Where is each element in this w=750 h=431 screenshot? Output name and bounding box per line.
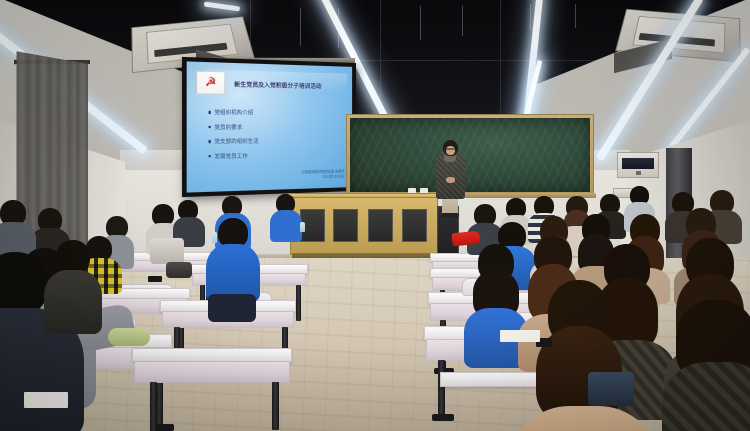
student-lower (208, 294, 256, 322)
list-item: 党组织机构介绍 (208, 109, 346, 117)
bag[interactable] (588, 372, 634, 406)
front-cabinet-podium[interactable] (290, 197, 438, 255)
student-head (56, 240, 90, 274)
presenter-shoes (441, 213, 459, 218)
ceiling-hanger-rod (300, 8, 301, 46)
ac-control-panel[interactable] (617, 152, 659, 178)
blackboard-surface[interactable] (350, 118, 590, 192)
paper-sheet[interactable] (500, 330, 540, 342)
desk-leg (296, 285, 301, 321)
desk-leg (272, 382, 279, 430)
slide-title: 新生党员及入党积极分子培训活动 (234, 80, 347, 91)
bullet-text: 党组织机构介绍 (214, 109, 253, 117)
phone[interactable] (148, 276, 162, 282)
presenter-hands (446, 177, 455, 183)
presentation-slide: ☭ 新生党员及入党积极分子培训活动 党组织机构介绍 党员的要求 党支部的组织生活 (187, 61, 352, 192)
scarf-on-desk[interactable] (108, 328, 150, 346)
desk-front-panel (134, 361, 290, 383)
desk-leg (438, 360, 445, 418)
list-item: 党员的要求 (208, 123, 346, 131)
bullet-marker-icon (208, 155, 211, 158)
bullet-text: 党支部的组织生活 (214, 138, 258, 146)
ceiling-hanger-rod (530, 4, 531, 30)
bullet-text: 发展党员工作 (214, 152, 247, 160)
slide-footer: 计算机网络学院党支部 张老师 2013年11月3日 (302, 169, 345, 180)
ceiling-hanger-rod (462, 6, 463, 36)
panel-logo (636, 171, 641, 175)
student-torso (44, 270, 102, 334)
bullet-marker-icon (208, 126, 211, 129)
list-item: 党支部的组织生活 (208, 137, 346, 145)
classroom-photo: ☭ 新生党员及入党积极分子培训活动 党组织机构介绍 党员的要求 党支部的组织生活 (0, 0, 750, 431)
paper-sheet[interactable] (24, 392, 68, 408)
water-bottle[interactable] (300, 222, 305, 232)
bullet-marker-icon (208, 111, 211, 114)
desk[interactable] (132, 348, 292, 362)
bullet-text: 党员的要求 (214, 123, 242, 131)
desk-leg (150, 382, 157, 431)
student-torso (270, 210, 302, 242)
podium-panel (368, 209, 393, 241)
ceiling-hanger-rod (575, 4, 576, 28)
podium-panel (333, 209, 358, 241)
slide-bullet-list: 党组织机构介绍 党员的要求 党支部的组织生活 发展党员工作 (208, 109, 346, 167)
water-bottle[interactable] (212, 232, 217, 243)
list-item: 发展党员工作 (208, 151, 346, 160)
blackboard-frame (346, 114, 594, 196)
desk-leg-foot (432, 414, 454, 421)
panel-display (622, 158, 654, 169)
bag[interactable] (166, 262, 192, 278)
bullet-marker-icon (208, 140, 211, 143)
glasses-icon (446, 148, 455, 150)
podium-panel (402, 209, 427, 241)
projector-screen[interactable]: ☭ 新生党员及入党积极分子培训活动 党组织机构介绍 党员的要求 党支部的组织生活 (182, 57, 356, 197)
ceiling-hanger-rod (420, 6, 421, 40)
backpack[interactable] (150, 238, 184, 264)
